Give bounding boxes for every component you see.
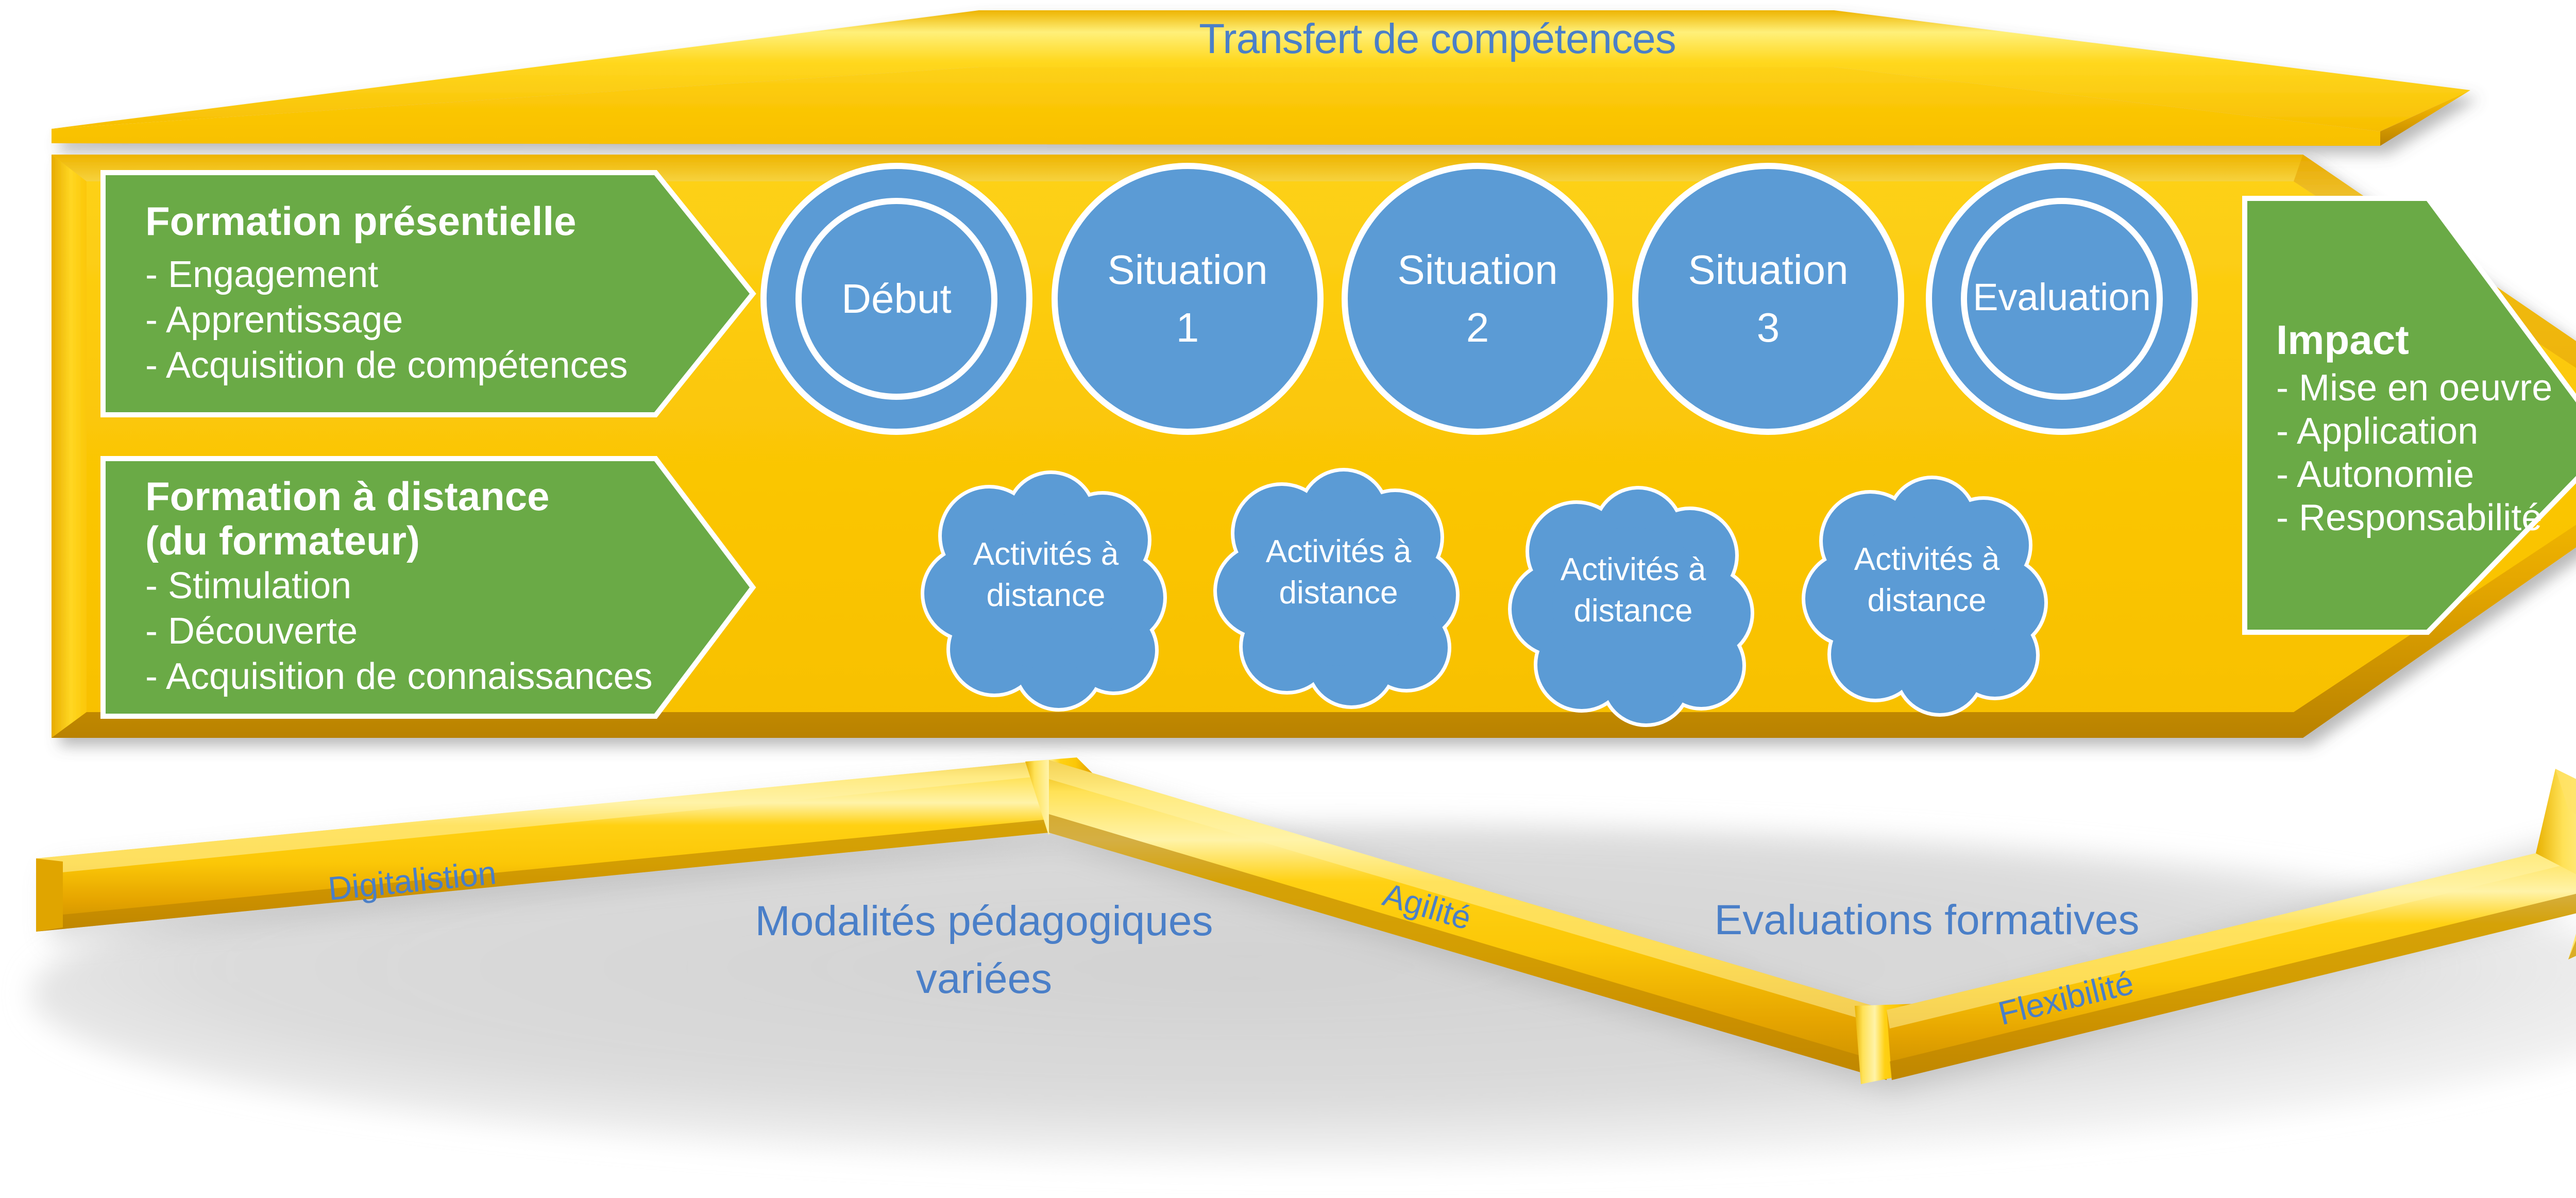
stage-circle-debut[interactable] bbox=[764, 166, 1029, 432]
cloud-activites-3[interactable] bbox=[1512, 490, 1751, 723]
diagram-shapes bbox=[0, 0, 2576, 1198]
panel-formation-a-distance[interactable] bbox=[106, 461, 750, 714]
stage-circles bbox=[764, 166, 2195, 432]
panel-formation-presentielle[interactable] bbox=[106, 175, 750, 412]
stage-circle-evaluation[interactable] bbox=[1929, 166, 2195, 432]
cloud-activites-4[interactable] bbox=[1805, 479, 2044, 713]
banner-rail bbox=[52, 10, 2470, 146]
cloud-activites-2[interactable] bbox=[1217, 471, 1456, 705]
cloud-activites-1[interactable] bbox=[924, 474, 1163, 708]
diagram-canvas: Transfert de compétences Formation prése… bbox=[0, 0, 2576, 1198]
stage-circle-situation-1[interactable] bbox=[1055, 166, 1320, 432]
stage-circle-situation-2[interactable] bbox=[1345, 166, 1611, 432]
stage-circle-situation-3[interactable] bbox=[1635, 166, 1901, 432]
